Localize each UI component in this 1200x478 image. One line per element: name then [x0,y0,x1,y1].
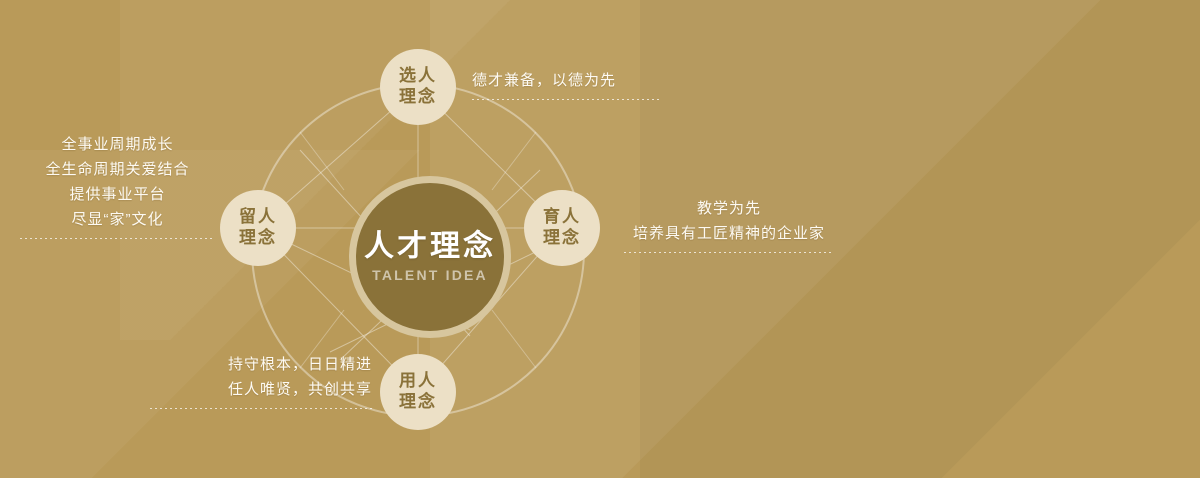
node-develop-label-line1: 育人 [543,207,581,228]
caption-use-talent: 持守根本，日日精进 任人唯贤，共创共享 [150,352,372,409]
caption-develop-underline [624,252,834,253]
talent-idea-diagram: 选人 理念 育人 理念 用人 理念 留人 理念 人才理念 TALENT IDEA… [0,0,1200,478]
node-retain-label-line2: 理念 [239,228,277,249]
node-select-label-line2: 理念 [399,87,437,108]
core-title-en: TALENT IDEA [372,267,488,284]
caption-develop-line1: 教学为先 [624,196,834,221]
caption-retain-line2: 全生命周期关爱结合 [20,157,215,182]
node-use-label-line1: 用人 [399,371,437,392]
node-core-talent-idea[interactable]: 人才理念 TALENT IDEA [349,176,511,338]
node-retain-label-line1: 留人 [239,207,277,228]
node-select-label-line1: 选人 [399,66,437,87]
caption-select-line1: 德才兼备，以德为先 [472,68,662,93]
caption-retain-line1: 全事业周期成长 [20,132,215,157]
node-use-label-line2: 理念 [399,392,437,413]
caption-select-underline [472,99,662,100]
node-use-talent[interactable]: 用人 理念 [380,354,456,430]
caption-retain-line4: 尽显“家”文化 [20,207,215,232]
caption-use-line1: 持守根本，日日精进 [150,352,372,377]
caption-select-talent: 德才兼备，以德为先 [472,68,662,100]
caption-develop-line2: 培养具有工匠精神的企业家 [624,221,834,246]
caption-retain-underline [20,238,215,239]
node-develop-label-line2: 理念 [543,228,581,249]
caption-use-line2: 任人唯贤，共创共享 [150,377,372,402]
caption-retain-talent: 全事业周期成长 全生命周期关爱结合 提供事业平台 尽显“家”文化 [20,132,215,239]
node-select-talent[interactable]: 选人 理念 [380,49,456,125]
caption-develop-talent: 教学为先 培养具有工匠精神的企业家 [624,196,834,253]
node-develop-talent[interactable]: 育人 理念 [524,190,600,266]
caption-retain-line3: 提供事业平台 [20,182,215,207]
core-title-cn: 人才理念 [364,230,496,263]
node-retain-talent[interactable]: 留人 理念 [220,190,296,266]
caption-use-underline [150,408,372,409]
